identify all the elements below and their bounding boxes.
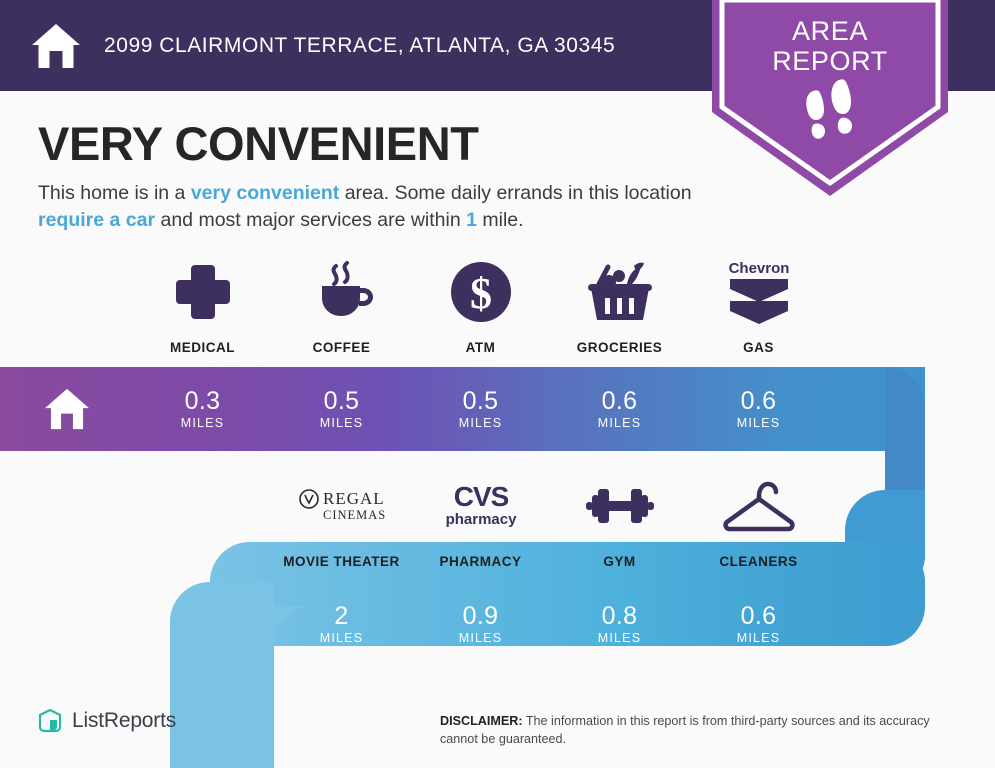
distance-cell: 0.9 MILES [411,582,550,666]
distance-cell: 0.6 MILES [550,367,689,451]
distance-cell: 0.6 MILES [689,367,828,451]
desc-highlight: 1 [466,209,477,231]
distance-cell: 0.3 MILES [133,367,272,451]
regal-cinemas-logo-icon: REGAL CINEMAS [295,470,389,542]
chevron-logo-icon: Chevron [720,256,798,328]
amenity-label: GROCERIES [577,340,663,355]
page-title: VERY CONVENIENT [38,118,479,170]
distance-value: 0.6 [741,603,777,629]
distance-cell: 0.5 MILES [272,367,411,451]
amenity-row-1: MEDICAL COFFEE $ ATM [133,256,828,355]
amenity-label: MEDICAL [170,340,235,355]
amenity-coffee[interactable]: COFFEE [272,256,411,355]
home-icon [30,20,104,72]
distance-value: 0.3 [185,388,221,414]
area-report-badge: AREA REPORT [712,0,948,196]
distance-unit: MILES [737,631,781,645]
listreports-house-tag-icon [37,708,72,734]
distance-cell: 0.6 MILES [689,582,828,666]
distance-unit: MILES [598,416,642,430]
dumbbell-icon [584,470,656,542]
amenity-label: GAS [743,340,774,355]
disclaimer: DISCLAIMER: The information in this repo… [440,712,960,748]
distance-unit: MILES [459,416,503,430]
badge-text: AREA REPORT [712,16,948,76]
distance-value: 2 [334,603,348,629]
distance-value: 0.6 [602,388,638,414]
desc-part: area. Some daily errands in this locatio… [339,182,691,204]
distance-cell: 0.8 MILES [550,582,689,666]
cvs-pharmacy-logo-icon: CVS pharmacy [434,470,528,542]
amenity-gas[interactable]: Chevron GAS [689,256,828,355]
area-report-infographic: 2099 CLAIRMONT TERRACE, ATLANTA, GA 3034… [0,0,995,768]
distance-unit: MILES [320,416,364,430]
amenity-label: CLEANERS [719,554,797,569]
home-icon [43,387,91,431]
dollar-circle-icon: $ [450,256,512,328]
amenity-movie-theater[interactable]: REGAL CINEMAS MOVIE THEATER [272,470,411,569]
cvs-subwordmark: pharmacy [445,511,517,528]
distance-row-1: 0.3 MILES 0.5 MILES 0.5 MILES 0.6 MILES … [133,367,828,451]
distance-value: 0.9 [463,603,499,629]
home-marker-cell [0,367,133,451]
amenity-atm[interactable]: $ ATM [411,256,550,355]
grocery-basket-icon [585,256,655,328]
distance-unit: MILES [598,631,642,645]
cvs-wordmark: CVS [453,481,508,512]
regal-wordmark-line2: CINEMAS [323,508,386,522]
chevron-wordmark: Chevron [728,260,789,277]
desc-part: and most major services are within [155,209,466,231]
distance-cell: 0.5 MILES [411,367,550,451]
desc-part: mile. [477,209,524,231]
distance-unit: MILES [181,416,225,430]
amenity-label: MOVIE THEATER [283,554,400,569]
amenity-cleaners[interactable]: CLEANERS [689,470,828,569]
desc-highlight: very convenient [191,182,339,204]
coffee-cup-icon [310,256,374,328]
amenity-row-2: REGAL CINEMAS MOVIE THEATER CVS pharmacy… [272,470,828,569]
amenity-groceries[interactable]: GROCERIES [550,256,689,355]
badge-line-2: REPORT [712,46,948,76]
listreports-logo[interactable]: ListReports [37,708,176,734]
badge-line-1: AREA [712,16,948,46]
property-address: 2099 CLAIRMONT TERRACE, ATLANTA, GA 3034… [104,34,615,58]
distance-unit: MILES [737,416,781,430]
amenity-label: COFFEE [313,340,371,355]
distance-value: 0.6 [741,388,777,414]
svg-text:$: $ [470,269,492,318]
distance-cell: 2 MILES [272,582,411,666]
distance-unit: MILES [459,631,503,645]
amenity-pharmacy[interactable]: CVS pharmacy PHARMACY [411,470,550,569]
page-description: This home is in a very convenient area. … [38,180,710,234]
disclaimer-label: DISCLAIMER: [440,714,523,728]
distance-value: 0.5 [324,388,360,414]
distance-row-2: 2 MILES 0.9 MILES 0.8 MILES 0.6 MILES [272,582,828,666]
header-content: 2099 CLAIRMONT TERRACE, ATLANTA, GA 3034… [0,0,615,91]
desc-part: This home is in a [38,182,191,204]
amenity-label: ATM [466,340,496,355]
distance-value: 0.5 [463,388,499,414]
listreports-wordmark: ListReports [72,709,176,733]
amenity-medical[interactable]: MEDICAL [133,256,272,355]
distance-unit: MILES [320,631,364,645]
desc-highlight: require a car [38,209,155,231]
clothes-hanger-icon [718,470,800,542]
distance-value: 0.8 [602,603,638,629]
regal-wordmark-line1: REGAL [323,489,385,508]
amenity-gym[interactable]: GYM [550,470,689,569]
medical-cross-icon [172,256,234,328]
amenity-label: PHARMACY [439,554,521,569]
amenity-label: GYM [603,554,635,569]
